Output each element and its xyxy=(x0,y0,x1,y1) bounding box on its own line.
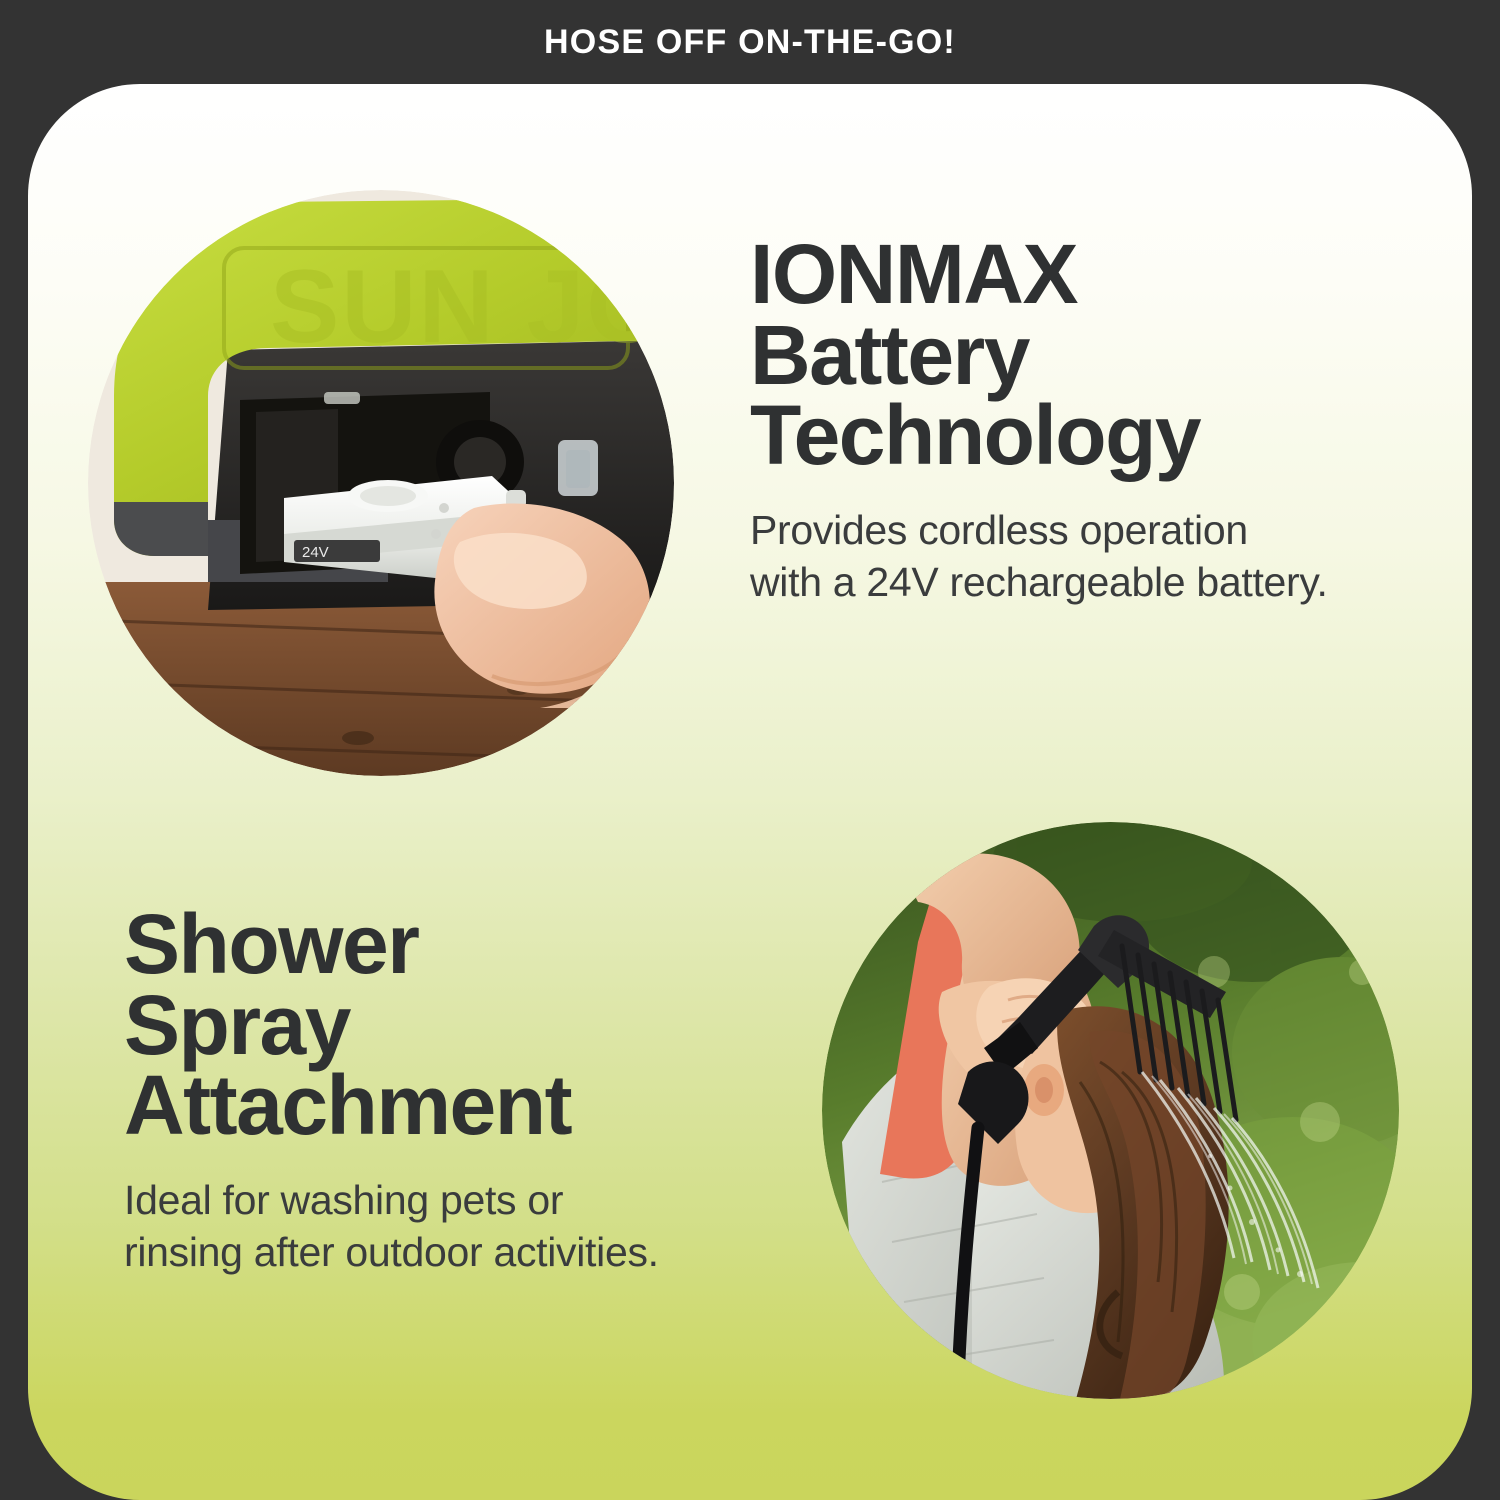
battery-insertion-photo: SUN JO xyxy=(88,190,674,776)
feature-ionmax-headline: IONMAX Battery Technology xyxy=(750,234,1440,476)
feature-ionmax-battery: IONMAX Battery Technology Provides cordl… xyxy=(750,234,1440,609)
body-line-2: rinsing after outdoor activities. xyxy=(124,1226,764,1278)
headline-line-1: Shower xyxy=(124,904,764,985)
headline-line-3: Technology xyxy=(750,395,1440,476)
svg-text:24V: 24V xyxy=(302,544,329,561)
svg-text:SUN JO: SUN JO xyxy=(270,249,669,365)
headline-line-1: IONMAX xyxy=(750,234,1440,315)
headline-line-2: Spray xyxy=(124,985,764,1066)
body-line-1: Provides cordless operation xyxy=(750,504,1440,556)
shower-spray-illustration xyxy=(822,822,1399,1399)
feature-shower-spray: Shower Spray Attachment Ideal for washin… xyxy=(124,904,764,1279)
content-card: SUN JO xyxy=(28,84,1472,1500)
headline-line-2: Battery xyxy=(750,315,1440,396)
feature-shower-body: Ideal for washing pets or rinsing after … xyxy=(124,1174,764,1279)
battery-insertion-illustration: SUN JO xyxy=(88,190,674,776)
body-line-2: with a 24V rechargeable battery. xyxy=(750,556,1440,608)
headline-line-3: Attachment xyxy=(124,1065,764,1146)
promo-image-root: HOSE OFF ON-THE-GO! xyxy=(0,0,1500,1500)
body-line-1: Ideal for washing pets or xyxy=(124,1174,764,1226)
header-banner-title: HOSE OFF ON-THE-GO! xyxy=(544,25,956,59)
header-banner: HOSE OFF ON-THE-GO! xyxy=(0,0,1500,84)
feature-shower-headline: Shower Spray Attachment xyxy=(124,904,764,1146)
feature-ionmax-body: Provides cordless operation with a 24V r… xyxy=(750,504,1440,609)
shower-spray-photo xyxy=(822,822,1399,1399)
